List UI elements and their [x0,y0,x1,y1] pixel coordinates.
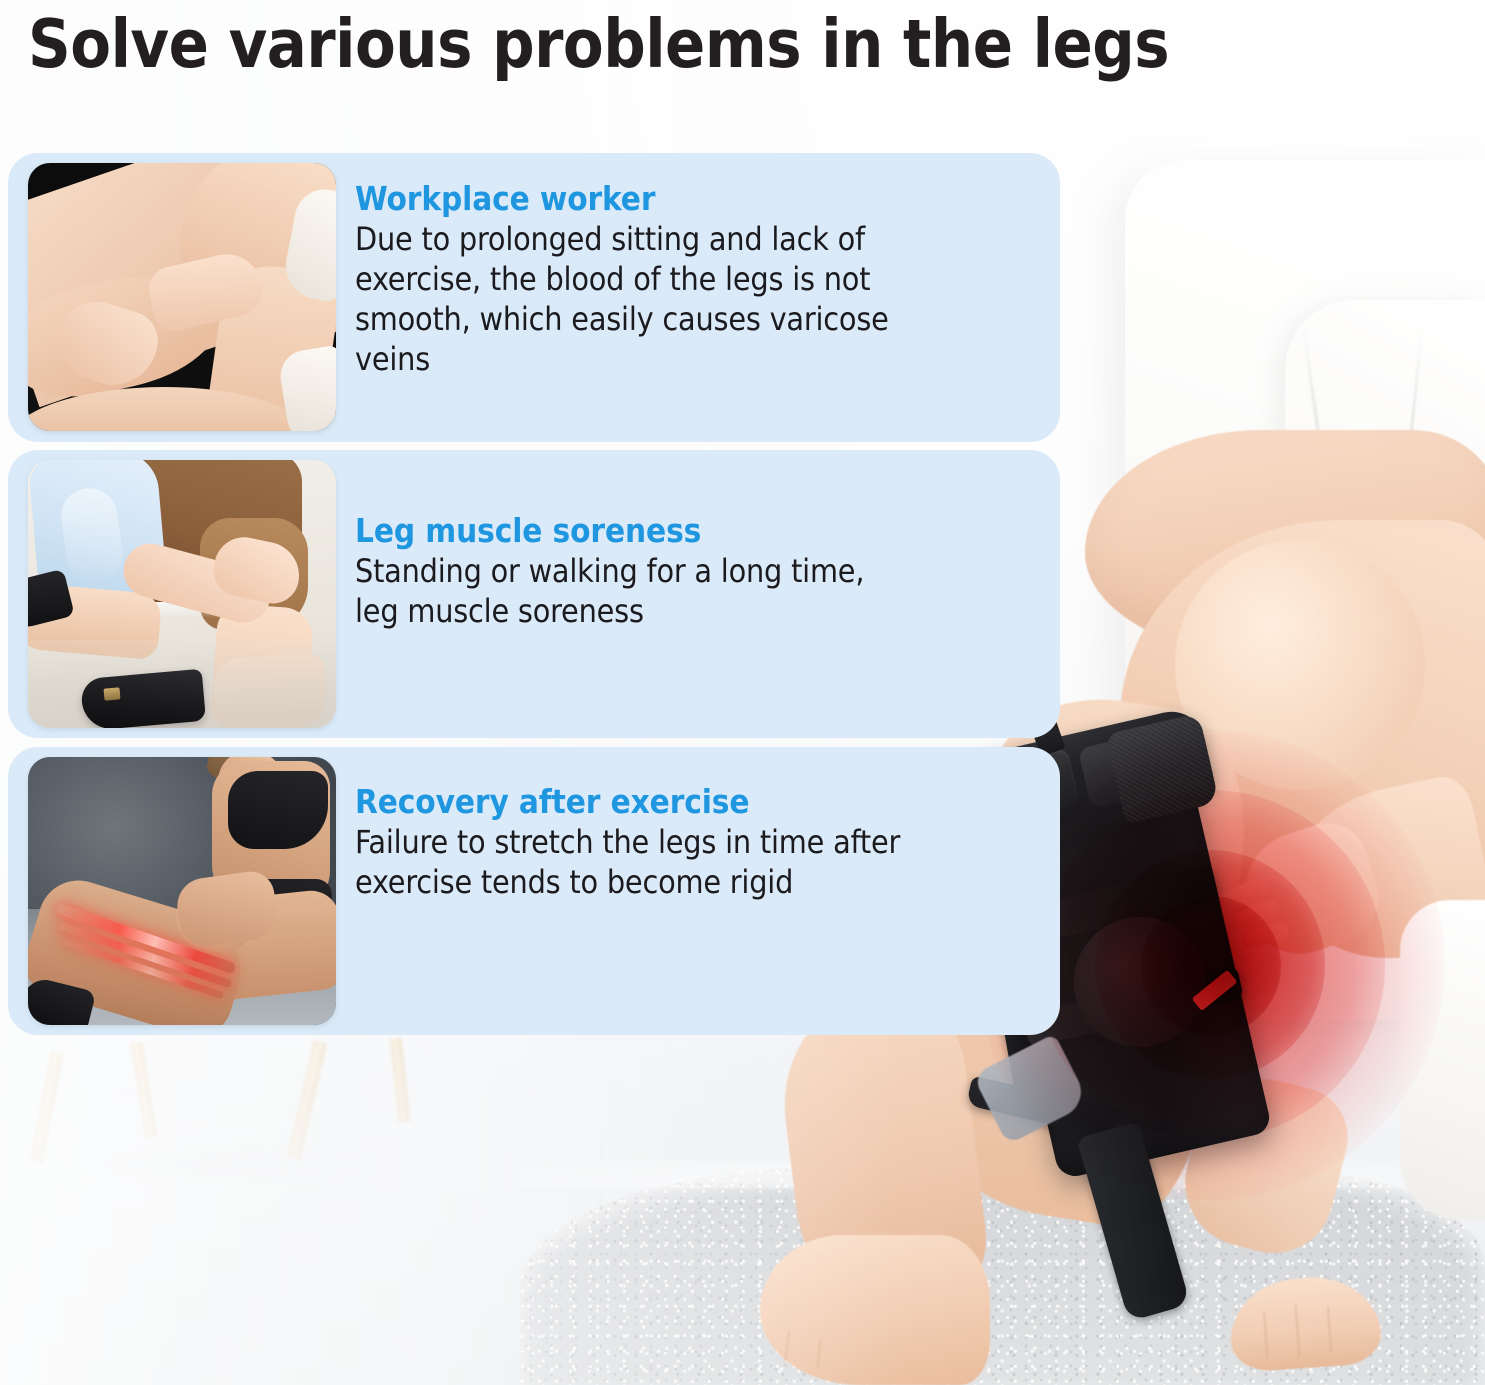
card-title: Leg muscle soreness [355,511,1040,550]
card-thumbnail-workplace-worker [28,163,336,431]
device-velcro-patch [1105,713,1219,824]
card-text-block: Leg muscle soreness Standing or walking … [355,511,1040,631]
card-thumbnail-recovery-after-exercise [28,757,336,1025]
card-title: Recovery after exercise [355,782,1040,821]
page-title: Solve various problems in the legs [28,2,1348,86]
card-body: Due to prolonged sitting and lack of exe… [355,219,1040,379]
feature-card-recovery-after-exercise: Recovery after exercise Failure to stret… [8,747,1060,1035]
feature-card-workplace-worker: Workplace worker Due to prolonged sittin… [8,153,1060,442]
feature-card-leg-muscle-soreness: Leg muscle soreness Standing or walking … [8,450,1060,738]
infographic-canvas: Solve various problems in the legs Workp… [0,0,1485,1385]
card-text-block: Workplace worker Due to prolonged sittin… [355,179,1040,379]
card-body: Failure to stretch the legs in time afte… [355,822,1040,902]
card-thumbnail-leg-muscle-soreness [28,460,336,728]
card-text-block: Recovery after exercise Failure to stret… [355,782,1040,902]
card-body: Standing or walking for a long time, leg… [355,551,1040,631]
card-title: Workplace worker [355,179,1040,218]
